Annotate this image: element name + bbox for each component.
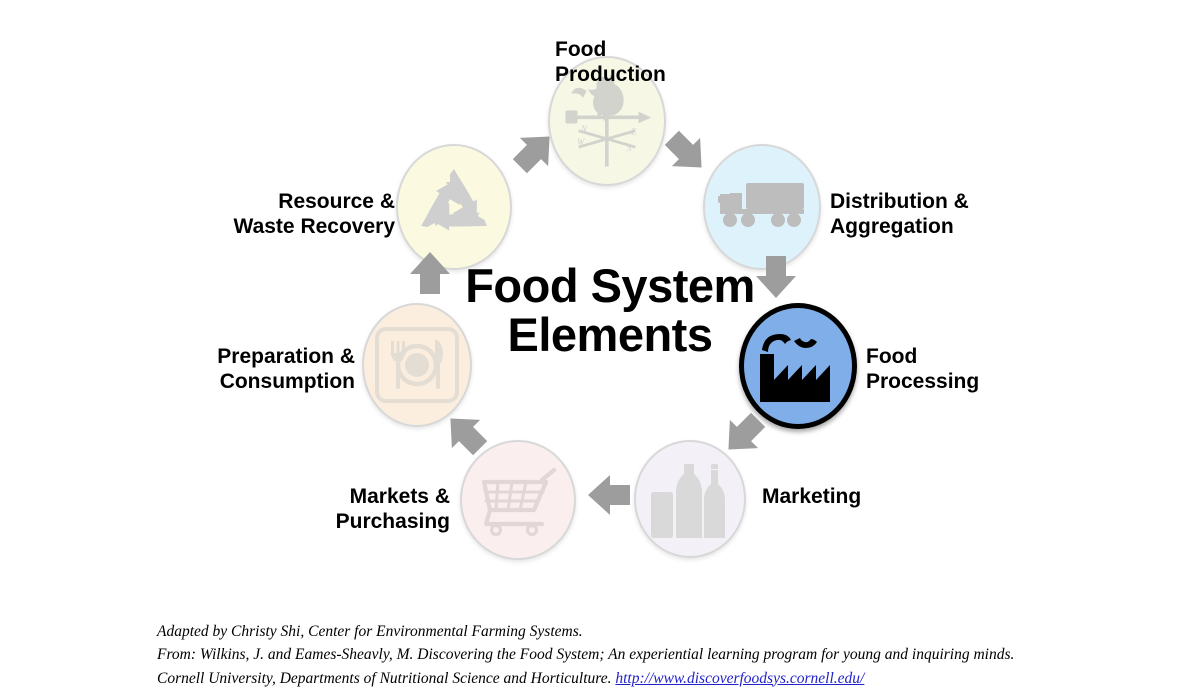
svg-text:S: S [627,143,632,153]
node-label-food-production: Food Production [555,38,725,88]
svg-text:N: N [580,124,588,134]
plate-fork-knife-icon [374,325,460,405]
arrow-preparation-to-resource [402,246,458,302]
shopping-cart-icon [474,464,562,536]
credits-block: Adapted by Christy Shi, Center for Envir… [157,620,1117,690]
credit-line-institution: Cornell University, Departments of Nutri… [157,667,1117,690]
recycling-icon [410,165,498,249]
bottles-icon [647,456,733,542]
node-label-distribution-aggregation: Distribution & Aggregation [830,190,1060,240]
credit-line-adapted-by: Adapted by Christy Shi, Center for Envir… [157,620,1117,643]
delivery-truck-icon [716,177,808,237]
credit-institution-text: Cornell University, Departments of Nutri… [157,670,615,687]
page-title: Food System Elements [435,262,785,360]
discoverfoodsys-link[interactable]: http://www.discoverfoodsys.cornell.edu/ [615,670,864,687]
node-label-resource-waste-recovery: Resource & Waste Recovery [220,190,395,240]
food-system-cycle-diagram: Food System Elements [0,0,1200,600]
svg-text:E: E [630,127,637,137]
node-label-markets-purchasing: Markets & Purchasing [280,485,450,535]
arrow-marketing-to-markets [582,467,638,523]
arrow-distribution-to-processing [748,248,804,304]
node-label-marketing: Marketing [762,485,962,510]
credit-line-source: From: Wilkins, J. and Eames-Sheavly, M. … [157,643,1117,666]
factory-icon [754,328,842,404]
node-label-food-processing: Food Processing [866,345,1086,395]
node-label-preparation-consumption: Preparation & Consumption [180,345,355,395]
